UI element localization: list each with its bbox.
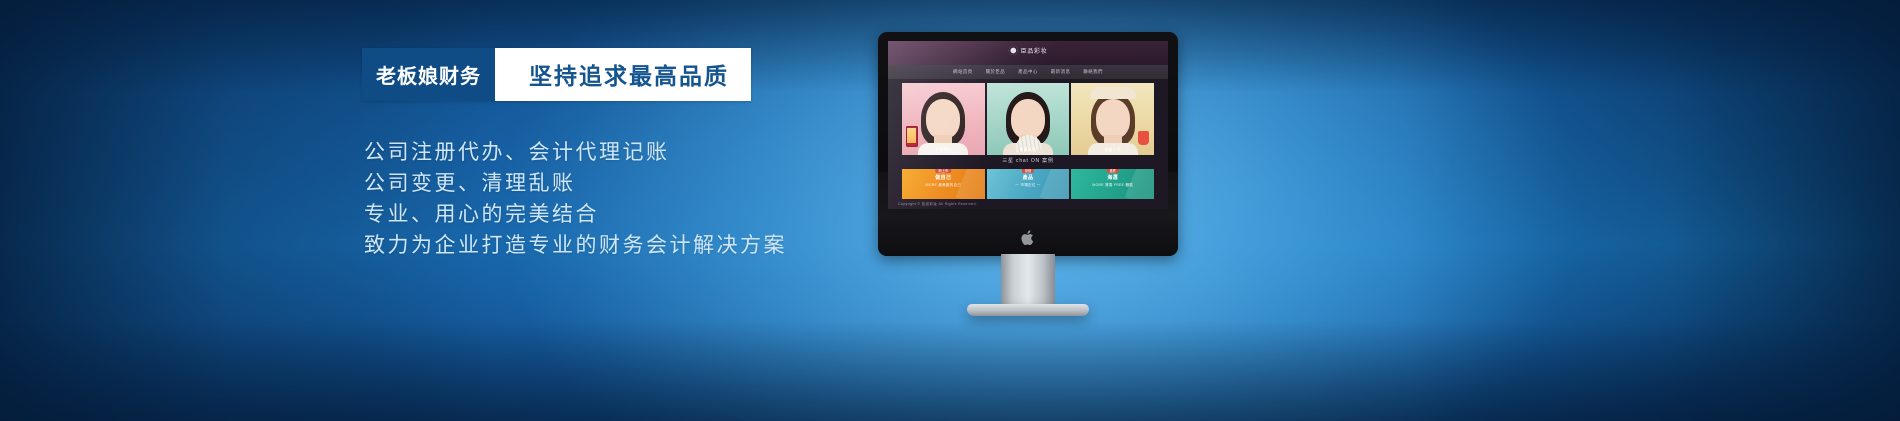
promo-card-2: 熱銷 產品 一 市場定位 一 (987, 169, 1070, 199)
sun-hat-icon (1090, 87, 1136, 99)
promo-card-2-tag: 熱銷 (1022, 169, 1034, 173)
website-caption: 三星 chat ON 案例 (888, 157, 1168, 164)
nav-item-contact: 聯絡我們 (1083, 69, 1103, 75)
promo-card-2-subtitle: 一 市場定位 一 (1015, 183, 1040, 188)
imac-bezel-chin (878, 220, 1178, 256)
imac-stand-neck (1001, 254, 1055, 308)
imac-body: 臣品彩妆 網站首頁 關於臣品 產品中心 最新消息 聯絡我們 (878, 32, 1178, 256)
promo-banner: 老板娘财务 坚持追求最高品质 公司注册代办、会计代理记账 公司变更、清理乱账 专… (0, 0, 1900, 421)
imac-screen: 臣品彩妆 網站首頁 關於臣品 產品中心 最新消息 聯絡我們 (888, 41, 1168, 209)
website-preview: 臣品彩妆 網站首頁 關於臣品 產品中心 最新消息 聯絡我們 (888, 41, 1168, 209)
nav-item-products: 產品中心 (1018, 69, 1038, 75)
body-copy-line-2: 公司变更、清理乱账 (364, 169, 787, 199)
promo-card-2-headline: 產品 (1023, 174, 1034, 181)
brand-name: 老板娘财务 (362, 48, 495, 101)
promo-card-1-tag: 新上市 (936, 169, 952, 173)
model-photo-1-face (926, 99, 960, 139)
model-photo-1: 手機預約 (902, 83, 985, 155)
body-copy-list: 公司注册代办、会计代理记账 公司变更、清理乱账 专业、用心的完美结合 致力为企业… (364, 138, 787, 262)
website-hero-band: 臣品彩妆 (888, 41, 1168, 65)
model-photo-2: 專業彩妝 (987, 83, 1070, 155)
website-logo: 臣品彩妆 (1009, 46, 1047, 55)
body-copy-line-4: 致力为企业打造专业的财务会计解决方案 (364, 231, 787, 261)
promo-card-3: 推薦 海選 MORE 驚喜 FREE 體驗 (1071, 169, 1154, 199)
promo-card-1: 新上市 做自己 MORE 最美麗的自己 (902, 169, 985, 199)
drink-cup-icon (1138, 131, 1149, 145)
nav-item-news: 最新消息 (1051, 69, 1071, 75)
slogan-text: 坚持追求最高品质 (495, 48, 751, 101)
promo-card-3-headline: 海選 (1107, 174, 1118, 181)
logo-wordmark: 臣品彩妆 (1021, 46, 1047, 55)
website-model-gallery: 手機預約 專業彩妝 (902, 83, 1154, 155)
model-photo-1-label: 手機預約 (902, 147, 985, 153)
imac-stand-base (967, 304, 1089, 316)
model-photo-3: 美麗人生 (1071, 83, 1154, 155)
body-copy-line-1: 公司注册代办、会计代理记账 (364, 138, 787, 168)
apple-logo-icon (1021, 229, 1036, 247)
model-photo-3-face (1096, 99, 1130, 139)
nav-item-about: 關於臣品 (986, 69, 1006, 75)
promo-card-1-headline: 做自己 (935, 174, 951, 181)
website-footer: Copyright © 臣品彩妆 All Rights Reserved. (898, 202, 977, 207)
smartphone-icon (906, 126, 918, 147)
promo-card-1-subtitle: MORE 最美麗的自己 (926, 183, 962, 188)
headline-badge: 老板娘财务 坚持追求最高品质 (362, 48, 751, 101)
imac-mockup: 臣品彩妆 網站首頁 關於臣品 產品中心 最新消息 聯絡我們 (878, 32, 1178, 302)
model-photo-3-label: 美麗人生 (1071, 147, 1154, 153)
smartphone-screen (907, 128, 916, 143)
nav-item-home: 網站首頁 (953, 69, 973, 75)
logo-mark-icon (1009, 46, 1018, 55)
body-copy-line-3: 专业、用心的完美结合 (364, 200, 787, 230)
model-photo-2-face (1011, 99, 1045, 139)
website-promo-cards: 新上市 做自己 MORE 最美麗的自己 熱銷 產品 一 市場定位 一 推薦 海選 (902, 169, 1154, 199)
promo-card-3-subtitle: MORE 驚喜 FREE 體驗 (1092, 183, 1133, 188)
model-photo-2-label: 專業彩妝 (987, 147, 1070, 153)
website-navbar: 網站首頁 關於臣品 產品中心 最新消息 聯絡我們 (888, 65, 1168, 79)
promo-card-3-tag: 推薦 (1106, 169, 1118, 173)
